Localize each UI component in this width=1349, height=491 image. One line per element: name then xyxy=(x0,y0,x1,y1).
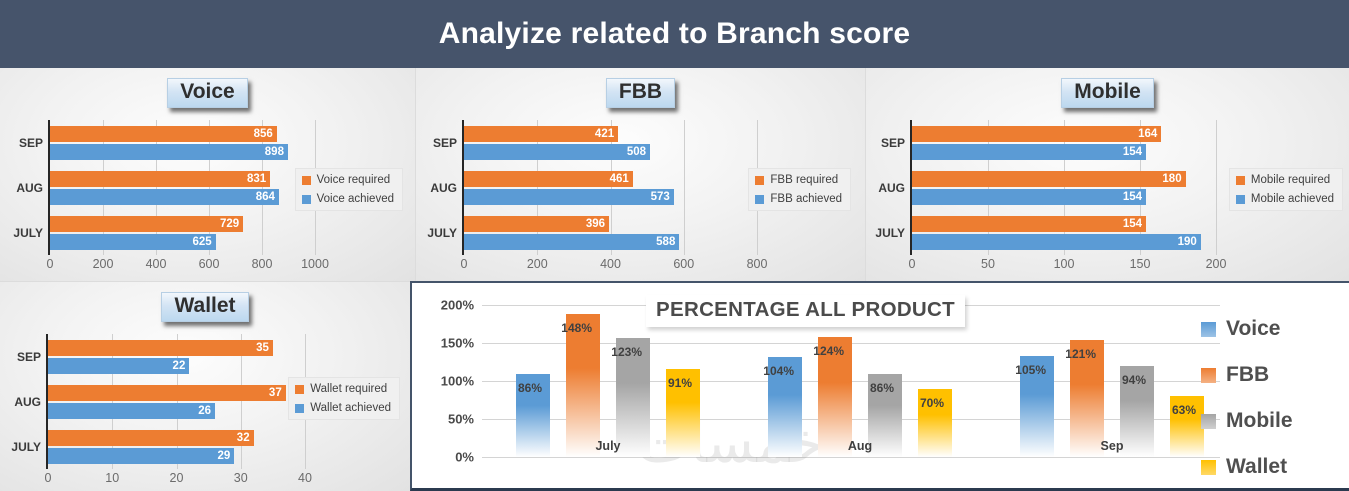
bar-label-fbb-sep: 121% xyxy=(1065,347,1096,361)
percentage-bar-groups: 86% 148% 123% xyxy=(482,305,1220,457)
x-tick: 600 xyxy=(673,257,694,271)
legend-item-required[interactable]: FBB required xyxy=(755,174,842,186)
wallet-plot-area: SEP 35 22 AUG 37 26 JULY 32 29 xyxy=(48,334,305,469)
y-label-july: JULY xyxy=(13,226,43,240)
bar-group-aug: AUG 831 864 xyxy=(50,169,315,207)
bar-group-aug: AUG 37 26 xyxy=(48,383,305,421)
x-tick: 0 xyxy=(45,471,52,485)
percentage-bar-chart: 200% 150% 100% 50% 0% xyxy=(430,305,1220,487)
y-label-sep: SEP xyxy=(17,350,41,364)
x-category-july: July xyxy=(482,439,734,453)
bar-group-july: JULY 154 190 xyxy=(912,214,1216,252)
bar-group-july: JULY 32 29 xyxy=(48,428,305,466)
fbb-title-wrap: FBB xyxy=(416,78,865,108)
bar-label-mobile-sep: 94% xyxy=(1122,373,1146,387)
mobile-x-axis: 0 50 100 150 200 xyxy=(912,257,1216,277)
y-label-sep: SEP xyxy=(433,136,457,150)
dashboard-header: Analyize related to Branch score xyxy=(0,0,1349,68)
bar-achieved-aug[interactable]: 154 xyxy=(912,189,1146,205)
bar-label-mobile-july: 123% xyxy=(611,345,642,359)
bar-group-sep: SEP 35 22 xyxy=(48,338,305,376)
legend-item-wallet[interactable]: Wallet xyxy=(1201,455,1333,479)
page-title: Analyize related to Branch score xyxy=(439,17,911,51)
legend-label: Wallet required xyxy=(310,383,387,395)
bar-achieved-aug[interactable]: 864 xyxy=(50,189,279,205)
legend-item-voice[interactable]: Voice xyxy=(1201,317,1333,341)
y-label-aug: AUG xyxy=(430,181,457,195)
bar-required-july[interactable]: 32 xyxy=(48,430,254,446)
dashboard-row-top: Voice SEP 856 898 AUG 831 864 xyxy=(0,68,1349,281)
x-tick: 0 xyxy=(909,257,916,271)
legend-label: FBB achieved xyxy=(770,193,842,205)
bar-achieved-sep[interactable]: 508 xyxy=(464,144,650,160)
legend-item-required[interactable]: Voice required xyxy=(302,174,394,186)
x-category-aug: Aug xyxy=(734,439,986,453)
chart-panel-fbb[interactable]: FBB SEP 421 508 AUG 461 573 xyxy=(415,68,865,281)
bar-required-july[interactable]: 396 xyxy=(464,216,609,232)
fbb-legend[interactable]: FBB required FBB achieved xyxy=(748,168,851,211)
y-label-july: JULY xyxy=(11,440,41,454)
legend-item-fbb[interactable]: FBB xyxy=(1201,363,1333,387)
legend-label: Mobile required xyxy=(1251,174,1330,186)
bar-group-july: 86% 148% 123% xyxy=(482,305,734,457)
x-tick: 800 xyxy=(747,257,768,271)
mobile-plot-area: SEP 164 154 AUG 180 154 JULY 154 190 xyxy=(912,120,1216,255)
mobile-legend[interactable]: Mobile required Mobile achieved xyxy=(1229,168,1343,211)
legend-label: Wallet achieved xyxy=(310,402,391,414)
bar-label-voice-aug: 104% xyxy=(763,364,794,378)
bar-achieved-july[interactable]: 29 xyxy=(48,448,234,464)
bar-label-fbb-aug: 124% xyxy=(813,344,844,358)
x-tick: 400 xyxy=(600,257,621,271)
wallet-x-axis: 0 10 20 30 40 xyxy=(48,471,305,491)
x-tick: 200 xyxy=(1206,257,1227,271)
legend-swatch-mobile-icon xyxy=(1201,414,1216,429)
x-tick: 800 xyxy=(252,257,273,271)
legend-swatch-wallet-icon xyxy=(1201,460,1216,475)
y-label-july: JULY xyxy=(875,226,905,240)
legend-item-achieved[interactable]: Mobile achieved xyxy=(1236,193,1334,205)
bar-required-aug[interactable]: 180 xyxy=(912,171,1186,187)
y-label-aug: AUG xyxy=(16,181,43,195)
bar-required-sep[interactable]: 35 xyxy=(48,340,273,356)
x-tick: 10 xyxy=(105,471,119,485)
bar-group-aug: AUG 461 573 xyxy=(464,169,757,207)
bar-required-july[interactable]: 729 xyxy=(50,216,243,232)
fbb-plot-area: SEP 421 508 AUG 461 573 JULY 396 588 xyxy=(464,120,757,255)
y-label-july: JULY xyxy=(427,226,457,240)
chart-panel-mobile[interactable]: Mobile SEP 164 154 AUG 180 154 xyxy=(865,68,1349,281)
bar-label-wallet-aug: 70% xyxy=(920,396,944,410)
bar-required-sep[interactable]: 164 xyxy=(912,126,1161,142)
mobile-chart-title: Mobile xyxy=(1061,78,1154,108)
bar-required-aug[interactable]: 461 xyxy=(464,171,633,187)
bar-required-aug[interactable]: 831 xyxy=(50,171,270,187)
legend-item-achieved[interactable]: FBB achieved xyxy=(755,193,842,205)
bar-label-wallet-july: 91% xyxy=(668,376,692,390)
legend-swatch-achieved-icon xyxy=(1236,195,1245,204)
bar-fbb-july[interactable] xyxy=(566,314,600,457)
fbb-chart-title: FBB xyxy=(606,78,675,108)
bar-achieved-july[interactable]: 588 xyxy=(464,234,679,250)
legend-label: FBB required xyxy=(770,174,838,186)
x-tick: 150 xyxy=(1130,257,1151,271)
bar-group-july: JULY 729 625 xyxy=(50,214,315,252)
wallet-chart-title: Wallet xyxy=(161,292,248,322)
bar-achieved-aug[interactable]: 26 xyxy=(48,403,215,419)
bar-achieved-aug[interactable]: 573 xyxy=(464,189,674,205)
legend-label: FBB xyxy=(1226,363,1269,387)
bar-group-sep: SEP 421 508 xyxy=(464,124,757,162)
x-tick: 50 xyxy=(981,257,995,271)
legend-item-required[interactable]: Mobile required xyxy=(1236,174,1334,186)
bar-required-sep[interactable]: 856 xyxy=(50,126,277,142)
legend-label: Voice xyxy=(1226,317,1280,341)
x-tick: 30 xyxy=(234,471,248,485)
y-tick: 0% xyxy=(455,450,474,465)
x-tick: 400 xyxy=(146,257,167,271)
bar-group-sep: SEP 164 154 xyxy=(912,124,1216,162)
legend-swatch-fbb-icon xyxy=(1201,368,1216,383)
legend-label: Mobile achieved xyxy=(1251,193,1334,205)
voice-x-axis: 0 200 400 600 800 1000 xyxy=(50,257,315,277)
legend-label: Voice achieved xyxy=(317,193,394,205)
voice-plot-area: SEP 856 898 AUG 831 864 JULY 729 625 xyxy=(50,120,315,255)
bar-achieved-july[interactable]: 625 xyxy=(50,234,216,250)
bar-required-sep[interactable]: 421 xyxy=(464,126,618,142)
legend-item-achieved[interactable]: Wallet achieved xyxy=(295,402,391,414)
x-tick: 200 xyxy=(527,257,548,271)
legend-label: Mobile xyxy=(1226,409,1293,433)
voice-chart-title: Voice xyxy=(167,78,247,108)
chart-panel-voice[interactable]: Voice SEP 856 898 AUG 831 864 xyxy=(0,68,415,281)
y-label-sep: SEP xyxy=(19,136,43,150)
bar-label-mobile-aug: 86% xyxy=(870,381,894,395)
legend-label: Voice required xyxy=(317,174,391,186)
x-tick: 20 xyxy=(170,471,184,485)
legend-swatch-required-icon xyxy=(1236,176,1245,185)
y-tick: 50% xyxy=(448,412,474,427)
percentage-chart-title: PERCENTAGE ALL PRODUCT xyxy=(646,295,965,327)
y-label-aug: AUG xyxy=(14,395,41,409)
bar-group-aug: AUG 180 154 xyxy=(912,169,1216,207)
x-tick: 100 xyxy=(1054,257,1075,271)
dashboard-row-bottom: Wallet SEP 35 22 AUG 37 26 xyxy=(0,281,1349,491)
x-tick: 600 xyxy=(199,257,220,271)
mobile-title-wrap: Mobile xyxy=(866,78,1349,108)
wallet-title-wrap: Wallet xyxy=(0,292,410,322)
x-tick: 1000 xyxy=(301,257,329,271)
x-tick: 0 xyxy=(47,257,54,271)
legend-item-required[interactable]: Wallet required xyxy=(295,383,391,395)
bar-wrap-fbb[interactable]: 148% xyxy=(566,314,600,457)
legend-item-mobile[interactable]: Mobile xyxy=(1201,409,1333,433)
bar-group-sep: SEP 856 898 xyxy=(50,124,315,162)
bar-label-wallet-sep: 63% xyxy=(1172,403,1196,417)
fbb-x-axis: 0 200 400 600 800 xyxy=(464,257,757,277)
percentage-legend[interactable]: Voice FBB Mobile Wallet xyxy=(1201,317,1333,479)
bar-group-july: JULY 396 588 xyxy=(464,214,757,252)
bar-group-aug: 104% 124% 86% xyxy=(734,305,986,457)
bar-achieved-july[interactable]: 190 xyxy=(912,234,1201,250)
bar-label-voice-july: 86% xyxy=(518,381,542,395)
y-label-aug: AUG xyxy=(878,181,905,195)
chart-panel-percentage[interactable]: PERCENTAGE ALL PRODUCT خمسات 200% 150% 1… xyxy=(410,281,1349,491)
bar-required-aug[interactable]: 37 xyxy=(48,385,286,401)
voice-title-wrap: Voice xyxy=(0,78,415,108)
chart-panel-wallet[interactable]: Wallet SEP 35 22 AUG 37 26 xyxy=(0,281,410,491)
y-tick: 150% xyxy=(441,336,474,351)
y-label-sep: SEP xyxy=(881,136,905,150)
legend-item-achieved[interactable]: Voice achieved xyxy=(302,193,394,205)
legend-label: Wallet xyxy=(1226,455,1287,479)
bar-required-july[interactable]: 154 xyxy=(912,216,1146,232)
y-tick: 100% xyxy=(441,374,474,389)
bar-achieved-sep[interactable]: 154 xyxy=(912,144,1146,160)
dashboard-body: Voice SEP 856 898 AUG 831 864 xyxy=(0,68,1349,491)
x-tick: 200 xyxy=(93,257,114,271)
bar-label-voice-sep: 105% xyxy=(1015,363,1046,377)
x-tick: 40 xyxy=(298,471,312,485)
bar-achieved-sep[interactable]: 898 xyxy=(50,144,288,160)
bar-achieved-sep[interactable]: 22 xyxy=(48,358,189,374)
legend-swatch-voice-icon xyxy=(1201,322,1216,337)
percentage-plot-area: 200% 150% 100% 50% 0% xyxy=(482,305,1220,457)
x-tick: 0 xyxy=(461,257,468,271)
